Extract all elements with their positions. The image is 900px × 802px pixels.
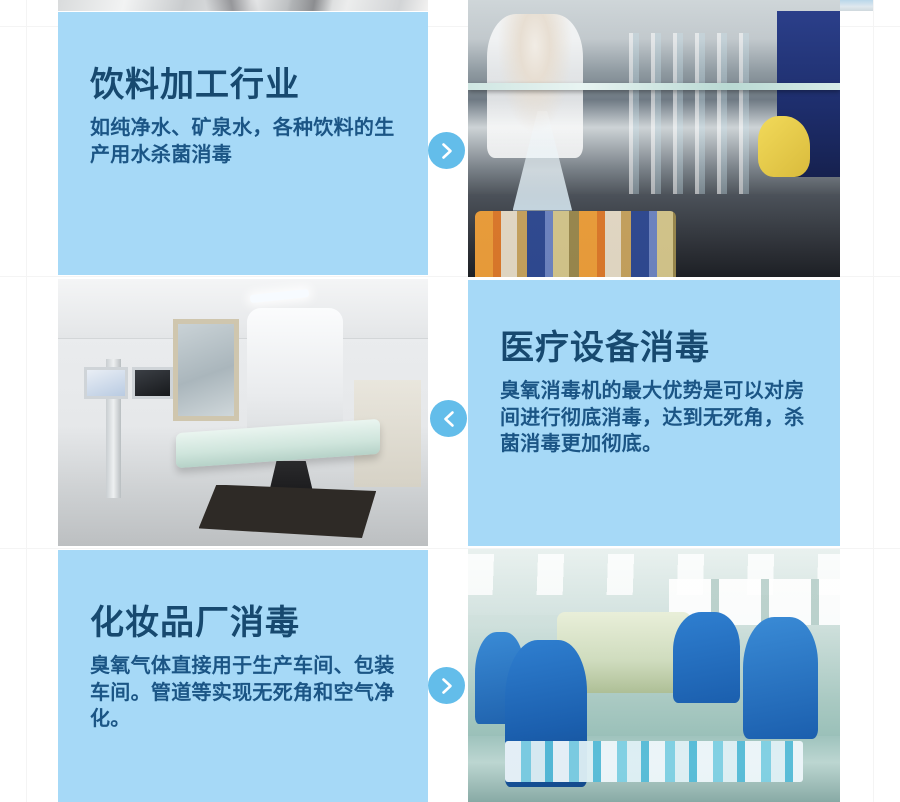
previous-section-photo-sliver [58,0,428,11]
factory-worker [673,612,740,703]
section-card-medical: 医疗设备消毒 臭氧消毒机的最大优势是可以对房间进行彻底消毒，达到无死角，杀菌消毒… [468,280,840,546]
lab-glove [758,116,810,177]
exam-table [176,419,380,468]
floor-mat [199,485,377,538]
chevron-left-glyph [439,409,459,429]
factory-worker [743,617,817,738]
product-detail-page: 饮料加工行业 如纯净水、矿泉水，各种饮料的生产用水杀菌消毒 医疗设备消 [0,0,900,802]
section-body-beverage: 如纯净水、矿泉水，各种饮料的生产用水杀菌消毒 [90,114,410,167]
chevron-right-glyph [437,676,457,696]
chevron-left-icon[interactable] [430,400,467,437]
radiology-room-photo [58,279,428,546]
section-title-cosmetics: 化妆品厂消毒 [90,605,410,642]
chevron-right-glyph [437,141,457,161]
section-card-beverage: 饮料加工行业 如纯净水、矿泉水，各种饮料的生产用水杀菌消毒 [58,12,428,275]
monitor-right [132,367,173,399]
beverage-bottles [475,211,676,277]
room-ceiling [58,279,428,339]
soap-products [505,741,803,781]
section-body-cosmetics: 臭氧气体直接用于生产车间、包装车间。管道等实现无死角和空气净化。 [90,652,410,731]
section-card-cosmetics: 化妆品厂消毒 臭氧气体直接用于生产车间、包装车间。管道等实现无死角和空气净化。 [58,550,428,802]
page-seam-line-vertical [26,0,27,802]
section-body-medical: 臭氧消毒机的最大优势是可以对房间进行彻底消毒，达到无死角，杀菌消毒更加彻底。 [500,377,822,456]
section-title-medical: 医疗设备消毒 [500,330,822,367]
monitor-left [84,367,128,399]
control-window [173,319,240,420]
chevron-right-icon[interactable] [428,667,465,704]
cosmetics-factory-photo [468,549,840,802]
chevron-right-icon[interactable] [428,132,465,169]
page-seam-line-vertical [873,0,874,802]
lab-glass-shelf [468,83,840,90]
previous-section-photo-sliver-right [840,0,873,11]
beverage-lab-photo [468,0,840,277]
section-title-beverage: 饮料加工行业 [90,67,410,104]
